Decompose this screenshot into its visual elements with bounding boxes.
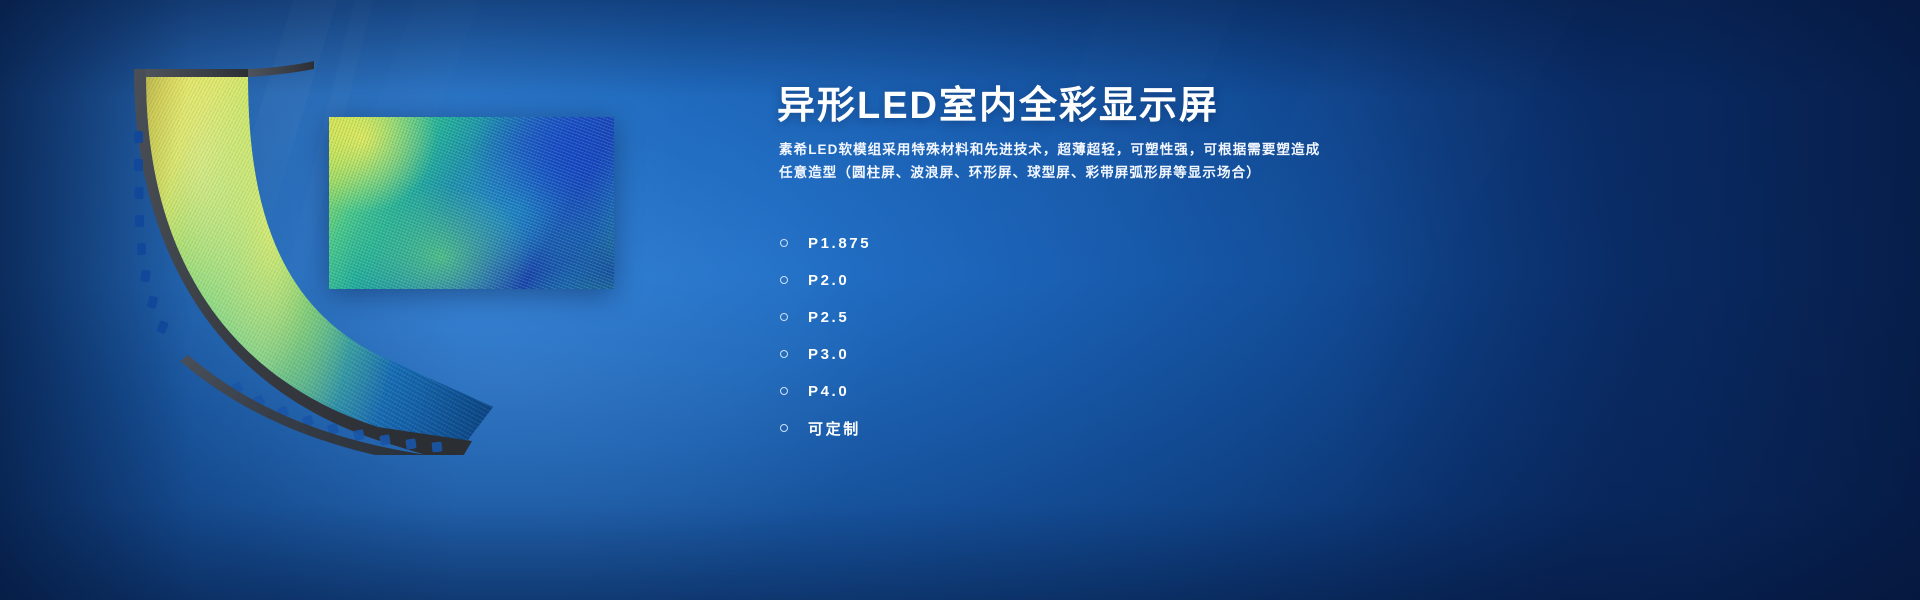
list-item[interactable]: 可定制 — [777, 410, 871, 446]
description-line-1: 素希LED软模组采用特殊材料和先进技术，超薄超轻，可塑性强，可根据需要塑造成 — [779, 138, 1439, 161]
hollow-circle-bullet-icon — [780, 276, 788, 284]
hollow-circle-bullet-icon — [780, 239, 788, 247]
description-line-2: 任意造型（圆柱屏、波浪屏、环形屏、球型屏、彩带屏弧形屏等显示场合） — [779, 161, 1439, 184]
spec-label: 可定制 — [808, 418, 861, 439]
page-title: 异形LED室内全彩显示屏 — [777, 74, 1219, 129]
list-item[interactable]: P2.5 — [777, 299, 871, 335]
spec-label: P2.5 — [808, 309, 849, 326]
hollow-circle-bullet-icon — [780, 313, 788, 321]
product-visual — [0, 0, 720, 600]
hollow-circle-bullet-icon — [780, 387, 788, 395]
spec-label: P3.0 — [808, 346, 849, 363]
led-product-banner: 异形LED室内全彩显示屏 素希LED软模组采用特殊材料和先进技术，超薄超轻，可塑… — [0, 0, 1920, 600]
spec-label: P4.0 — [808, 383, 849, 400]
spec-label: P1.875 — [808, 235, 871, 252]
abstract-led-artwork-closeup — [329, 117, 614, 289]
product-description: 素希LED软模组采用特殊材料和先进技术，超薄超轻，可塑性强，可根据需要塑造成 任… — [779, 138, 1439, 184]
list-item[interactable]: P4.0 — [777, 373, 871, 409]
list-item[interactable]: P2.0 — [777, 262, 871, 298]
pixel-pitch-spec-list: P1.875 P2.0 P2.5 P3.0 P4.0 可定制 — [777, 225, 871, 447]
led-closeup-inset-image — [329, 117, 614, 289]
banner-content: 异形LED室内全彩显示屏 素希LED软模组采用特殊材料和先进技术，超薄超轻，可塑… — [777, 0, 1777, 600]
list-item[interactable]: P1.875 — [777, 225, 871, 261]
list-item[interactable]: P3.0 — [777, 336, 871, 372]
hollow-circle-bullet-icon — [780, 424, 788, 432]
hollow-circle-bullet-icon — [780, 350, 788, 358]
spec-label: P2.0 — [808, 272, 849, 289]
